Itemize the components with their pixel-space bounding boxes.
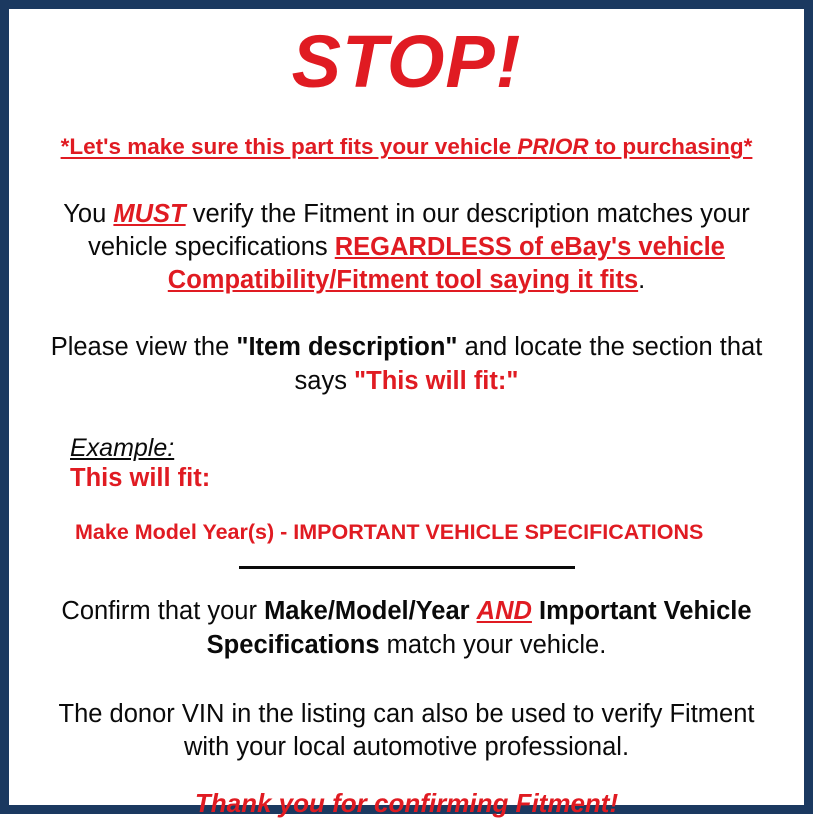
tagline-emphasis-prior: PRIOR: [517, 134, 588, 159]
thanks-line: Thank you for confirming Fitment!: [23, 788, 790, 819]
stop-headline: STOP!: [23, 25, 790, 99]
confirm-part1: Confirm that your: [61, 597, 264, 625]
notice-content: STOP! *Let's make sure this part fits yo…: [9, 9, 804, 805]
confirm-space-1: [470, 597, 477, 625]
example-spec-line: Make Model Year(s) - IMPORTANT VEHICLE S…: [70, 520, 790, 545]
example-label: Example:: [70, 434, 174, 463]
example-block: Example: This will fit: Make Model Year(…: [23, 434, 790, 545]
section-divider: [239, 566, 575, 569]
item-description-label: "Item description": [236, 333, 457, 361]
example-fit-line: This will fit:: [70, 464, 790, 493]
confirm-make-model-year: Make/Model/Year: [264, 597, 470, 625]
this-will-fit-quote: "This will fit:": [354, 367, 518, 395]
must-paragraph-part3: .: [638, 266, 645, 294]
confirm-space-2: [532, 597, 539, 625]
must-paragraph-part1: You: [63, 200, 113, 228]
item-desc-part1: Please view the: [51, 333, 237, 361]
vin-paragraph: The donor VIN in the listing can also be…: [23, 698, 790, 764]
must-verify-paragraph: You MUST verify the Fitment in our descr…: [23, 198, 790, 297]
tagline-part1: *Let's make sure this part fits your veh…: [61, 134, 518, 159]
example-label-row: Example:: [70, 434, 790, 463]
must-emphasis: MUST: [113, 200, 185, 228]
fitment-notice-card: STOP! *Let's make sure this part fits yo…: [0, 0, 813, 814]
divider-wrap: [23, 566, 790, 569]
and-emphasis: AND: [477, 597, 532, 625]
confirm-part2: match your vehicle.: [380, 631, 607, 659]
item-description-paragraph: Please view the "Item description" and l…: [23, 331, 790, 397]
tagline: *Let's make sure this part fits your veh…: [23, 133, 790, 160]
tagline-part2: to purchasing*: [589, 134, 753, 159]
confirm-paragraph: Confirm that your Make/Model/Year AND Im…: [23, 595, 790, 661]
